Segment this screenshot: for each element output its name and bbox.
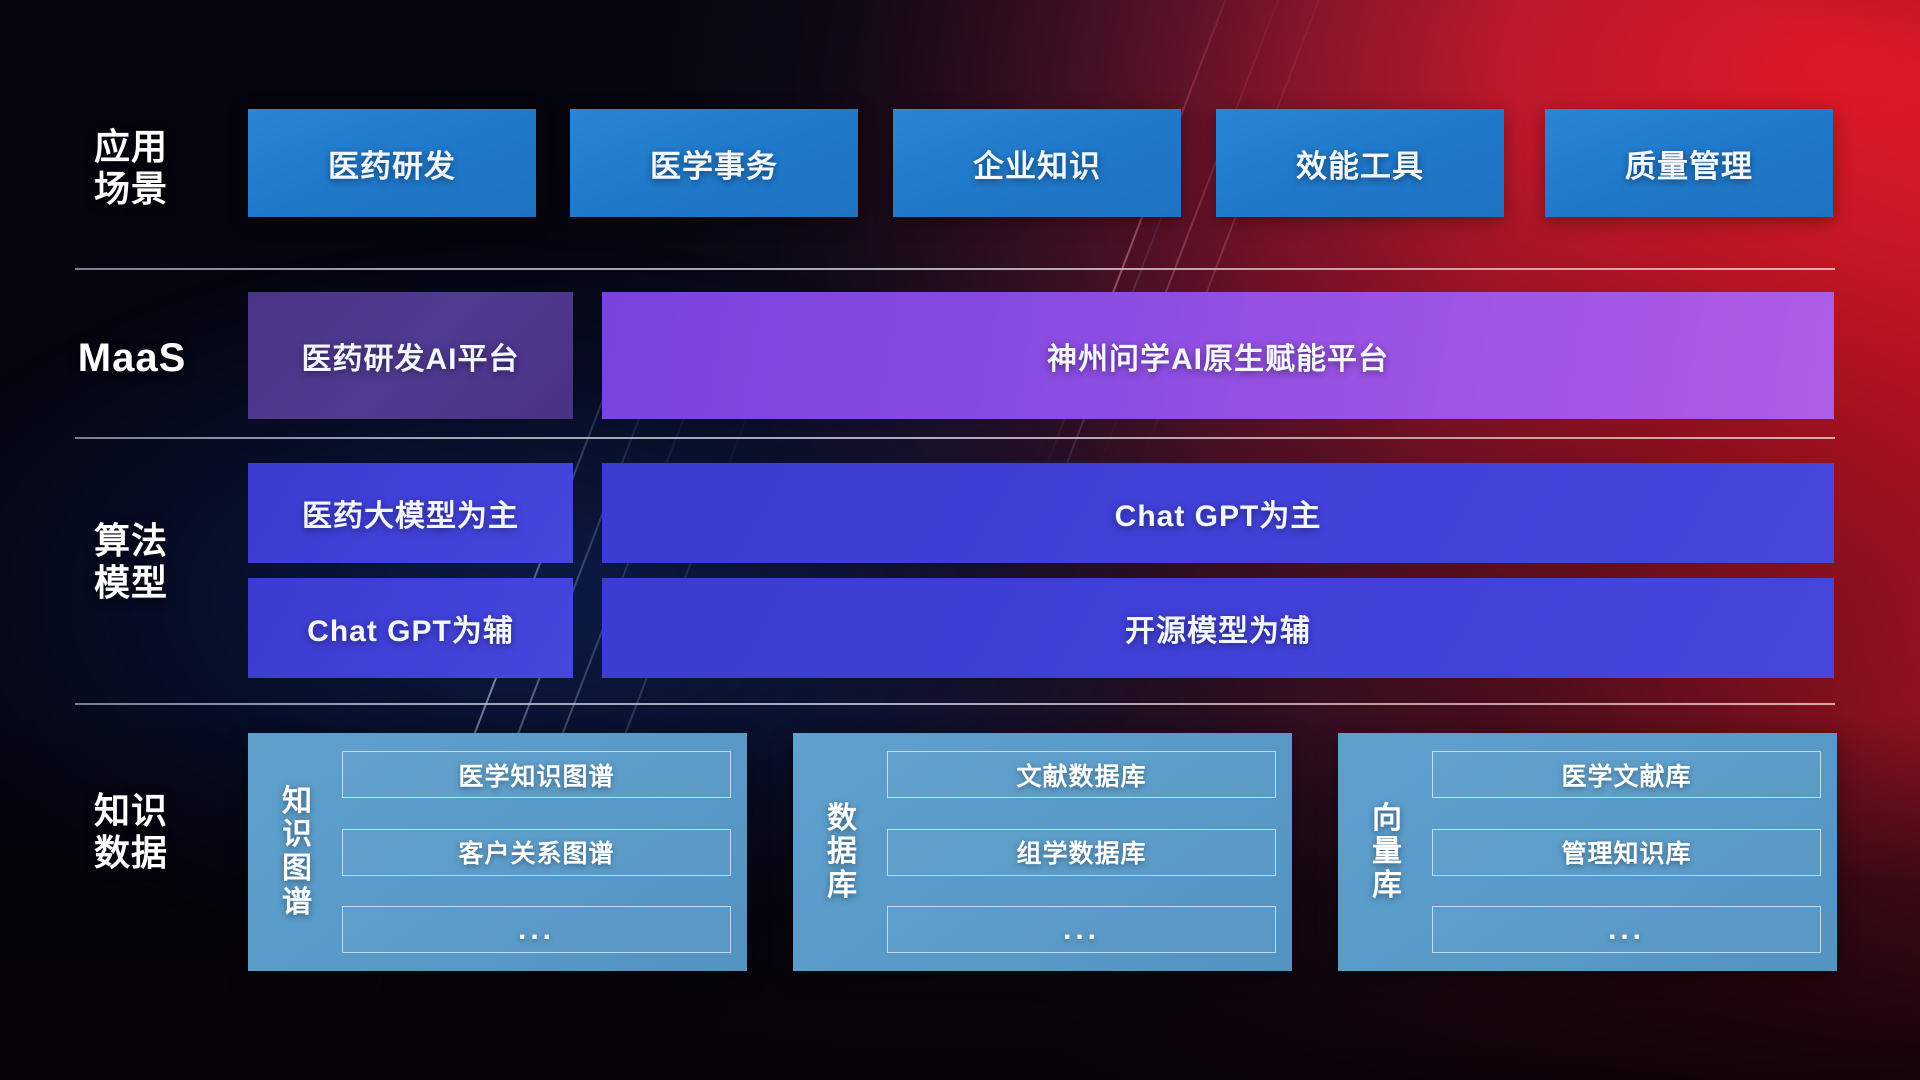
maas-box-label: 神州问学AI原生赋能平台 — [1047, 334, 1389, 378]
knowledge-item[interactable]: 管理知识库 — [1432, 829, 1821, 876]
algo-box-label: 开源模型为辅 — [1125, 606, 1311, 650]
knowledge-panel-items: 医学知识图谱 客户关系图谱 ... — [328, 751, 731, 953]
knowledge-panel-items: 医学文献库 管理知识库 ... — [1418, 751, 1821, 953]
app-box-label: 企业知识 — [973, 141, 1101, 186]
knowledge-item[interactable]: 医学知识图谱 — [342, 751, 731, 798]
row-label-algorithm: 算法 模型 — [72, 520, 190, 604]
knowledge-panel-vertical-label: 知 识 图 谱 — [266, 751, 328, 953]
maas-box-medicine-ai-platform[interactable]: 医药研发AI平台 — [248, 292, 573, 419]
app-box-efficiency-tools[interactable]: 效能工具 — [1216, 109, 1504, 217]
app-box-medicine-rnd[interactable]: 医药研发 — [248, 109, 536, 217]
knowledge-panel-vector-store[interactable]: 向 量 库 医学文献库 管理知识库 ... — [1338, 733, 1837, 971]
knowledge-item[interactable]: 医学文献库 — [1432, 751, 1821, 798]
row-label-application: 应用 场景 — [72, 126, 190, 210]
algo-box-label: 医药大模型为主 — [302, 491, 519, 535]
divider-application-maas — [75, 268, 1835, 270]
app-box-label: 医药研发 — [328, 141, 456, 186]
algo-box-chatgpt-secondary[interactable]: Chat GPT为辅 — [248, 578, 573, 678]
knowledge-panel-items: 文献数据库 组学数据库 ... — [873, 751, 1276, 953]
app-box-label: 医学事务 — [650, 141, 778, 186]
app-box-label: 效能工具 — [1296, 141, 1424, 186]
knowledge-item[interactable]: 客户关系图谱 — [342, 829, 731, 876]
knowledge-panel-vertical-label: 向 量 库 — [1356, 751, 1418, 953]
algo-box-chatgpt-primary[interactable]: Chat GPT为主 — [602, 463, 1834, 563]
app-box-enterprise-knowledge[interactable]: 企业知识 — [893, 109, 1181, 217]
knowledge-panel-database[interactable]: 数 据 库 文献数据库 组学数据库 ... — [793, 733, 1292, 971]
row-label-knowledge: 知识 数据 — [72, 790, 190, 874]
knowledge-panel-vertical-label: 数 据 库 — [811, 751, 873, 953]
algo-box-label: Chat GPT为主 — [1115, 491, 1322, 535]
knowledge-panel-knowledge-graph[interactable]: 知 识 图 谱 医学知识图谱 客户关系图谱 ... — [248, 733, 747, 971]
knowledge-item-more[interactable]: ... — [1432, 906, 1821, 953]
divider-algorithm-knowledge — [75, 703, 1835, 705]
knowledge-item-more[interactable]: ... — [342, 906, 731, 953]
app-box-label: 质量管理 — [1625, 141, 1753, 186]
knowledge-item[interactable]: 组学数据库 — [887, 829, 1276, 876]
divider-maas-algorithm — [75, 437, 1835, 439]
algo-box-opensource-secondary[interactable]: 开源模型为辅 — [602, 578, 1834, 678]
row-label-maas: MaaS — [62, 335, 202, 381]
maas-box-shenzhou-wenxue-platform[interactable]: 神州问学AI原生赋能平台 — [602, 292, 1834, 419]
knowledge-item-more[interactable]: ... — [887, 906, 1276, 953]
maas-box-label: 医药研发AI平台 — [302, 334, 520, 378]
app-box-medical-affairs[interactable]: 医学事务 — [570, 109, 858, 217]
architecture-diagram: 应用 场景 医药研发 医学事务 企业知识 效能工具 质量管理 MaaS 医药研发… — [0, 0, 1920, 1080]
algo-box-medicine-llm-primary[interactable]: 医药大模型为主 — [248, 463, 573, 563]
app-box-quality-management[interactable]: 质量管理 — [1545, 109, 1833, 217]
knowledge-item[interactable]: 文献数据库 — [887, 751, 1276, 798]
algo-box-label: Chat GPT为辅 — [307, 606, 514, 650]
